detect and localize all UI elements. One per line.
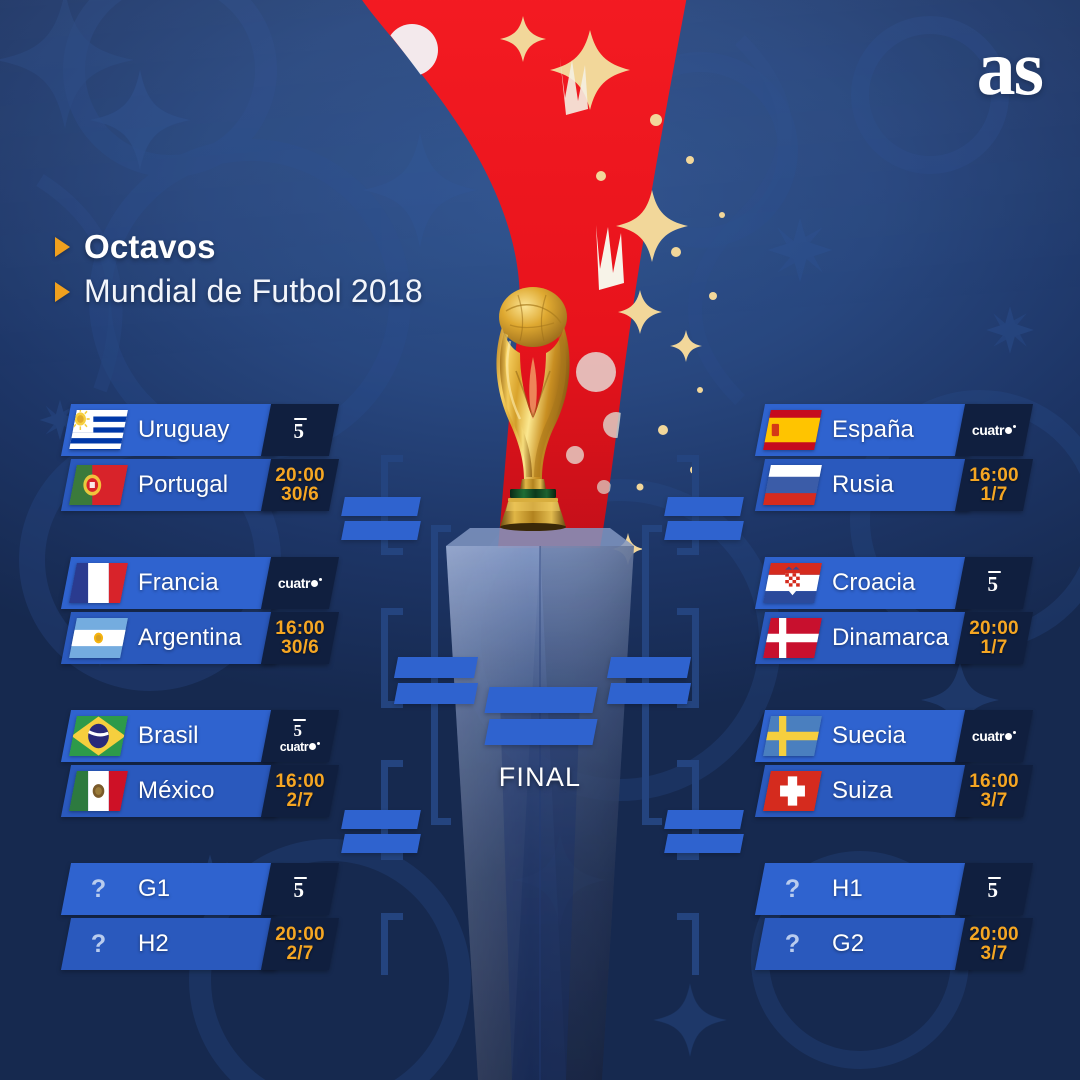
flag-croacia-icon [763, 563, 822, 603]
bracket-connector [677, 455, 699, 462]
unknown-team-icon: ? [73, 924, 124, 964]
bracket-connector [677, 548, 699, 555]
match-francia-argentina[interactable]: FranciacuatrArgentina16:0030/6 [66, 557, 334, 667]
flag-brasil-icon [69, 716, 128, 756]
bracket-connector [381, 548, 403, 555]
quarterfinal-slot [341, 834, 421, 853]
unknown-team-icon: ? [767, 924, 818, 964]
page-title: Octavos [84, 228, 216, 266]
match-row[interactable]: Sueciacuatr [760, 710, 1028, 762]
semifinal-slot [394, 683, 478, 704]
match-row[interactable]: Franciacuatr [66, 557, 334, 609]
flag-suiza-icon [763, 771, 822, 811]
bracket-connector [431, 525, 451, 532]
team-name: Brasil [138, 710, 278, 762]
match-row[interactable]: Rusia16:001/7 [760, 459, 1028, 511]
match-row[interactable]: ?G15 [66, 863, 334, 915]
match-row[interactable]: Españacuatr [760, 404, 1028, 456]
flag-portugal-icon [69, 465, 128, 505]
team-name: México [138, 765, 278, 817]
flag-rusia-icon [763, 465, 822, 505]
match-espana-rusia[interactable]: EspañacuatrRusia16:001/7 [760, 404, 1028, 514]
infographic-canvas: as Octavos Mundial de Futbol 2018 [0, 0, 1080, 1080]
match-suecia-suiza[interactable]: SueciacuatrSuiza16:003/7 [760, 710, 1028, 820]
match-row[interactable]: Portugal20:0030/6 [66, 459, 334, 511]
flag-argentina-icon [69, 618, 128, 658]
match-row[interactable]: Brasil5cuatr [66, 710, 334, 762]
bracket-connector [381, 913, 403, 920]
bracket-connector [692, 608, 699, 708]
match-row[interactable]: Dinamarca20:001/7 [760, 612, 1028, 664]
team-name: H1 [832, 863, 972, 915]
header-subtitle-row: Mundial de Futbol 2018 [55, 273, 423, 310]
world-cup-trophy-icon [474, 283, 592, 531]
final-slot-away [484, 719, 597, 745]
team-name: Croacia [832, 557, 972, 609]
match-uruguay-portugal[interactable]: Uruguay5Portugal20:0030/6 [66, 404, 334, 514]
bracket-connector [381, 913, 388, 975]
semifinal-slot [394, 657, 478, 678]
team-name: España [832, 404, 972, 456]
match-h1-g2[interactable]: ?H15?G220:003/7 [760, 863, 1028, 973]
match-row[interactable]: México16:002/7 [66, 765, 334, 817]
flag-suecia-icon [763, 716, 822, 756]
header-title-row: Octavos [55, 228, 423, 266]
bracket-connector [677, 853, 699, 860]
header-block: Octavos Mundial de Futbol 2018 [55, 228, 423, 317]
page-subtitle: Mundial de Futbol 2018 [84, 273, 423, 310]
match-brasil-mexico[interactable]: Brasil5cuatrMéxico16:002/7 [66, 710, 334, 820]
quarterfinal-slot [664, 497, 744, 516]
bracket-connector [381, 455, 403, 462]
team-name: Suecia [832, 710, 972, 762]
quarterfinal-slot [341, 521, 421, 540]
match-croacia-dinamarca[interactable]: Croacia5Dinamarca20:001/7 [760, 557, 1028, 667]
team-name: G2 [832, 918, 972, 970]
team-name: Argentina [138, 612, 278, 664]
triangle-bullet-icon [55, 282, 70, 302]
flag-dinamarca-icon [763, 618, 822, 658]
match-row[interactable]: Croacia5 [760, 557, 1028, 609]
team-name: H2 [138, 918, 278, 970]
match-row[interactable]: Uruguay5 [66, 404, 334, 456]
bracket-connector [381, 608, 388, 708]
match-g1-h2[interactable]: ?G15?H220:002/7 [66, 863, 334, 973]
unknown-team-icon: ? [73, 869, 124, 909]
team-name: Portugal [138, 459, 278, 511]
bracket-connector [642, 818, 662, 825]
team-name: Rusia [832, 459, 972, 511]
match-row[interactable]: Suiza16:003/7 [760, 765, 1028, 817]
flag-francia-icon [69, 563, 128, 603]
team-name: Francia [138, 557, 278, 609]
as-brand-logo: as [977, 33, 1042, 103]
triangle-bullet-icon [55, 237, 70, 257]
team-name: Uruguay [138, 404, 278, 456]
team-name: G1 [138, 863, 278, 915]
quarterfinal-slot [664, 834, 744, 853]
bracket-connector [431, 818, 451, 825]
bracket-connector [677, 913, 699, 920]
match-row[interactable]: ?H220:002/7 [66, 918, 334, 970]
bracket-connector [677, 608, 699, 615]
flag-mexico-icon [69, 771, 128, 811]
unknown-team-icon: ? [767, 869, 818, 909]
quarterfinal-slot [341, 810, 421, 829]
semifinal-slot [607, 683, 691, 704]
quarterfinal-slot [664, 521, 744, 540]
bracket-connector [642, 525, 662, 532]
bracket-connector [381, 853, 403, 860]
team-name: Suiza [832, 765, 972, 817]
quarterfinal-slot [664, 810, 744, 829]
match-row[interactable]: ?G220:003/7 [760, 918, 1028, 970]
bracket-connector [381, 608, 403, 615]
quarterfinal-slot [341, 497, 421, 516]
team-name: Dinamarca [832, 612, 972, 664]
match-row[interactable]: Argentina16:0030/6 [66, 612, 334, 664]
final-slot-home [484, 687, 597, 713]
flag-espana-icon [763, 410, 822, 450]
match-row[interactable]: ?H15 [760, 863, 1028, 915]
flag-uruguay-icon [69, 410, 128, 450]
bracket-connector [692, 913, 699, 975]
semifinal-slot [607, 657, 691, 678]
